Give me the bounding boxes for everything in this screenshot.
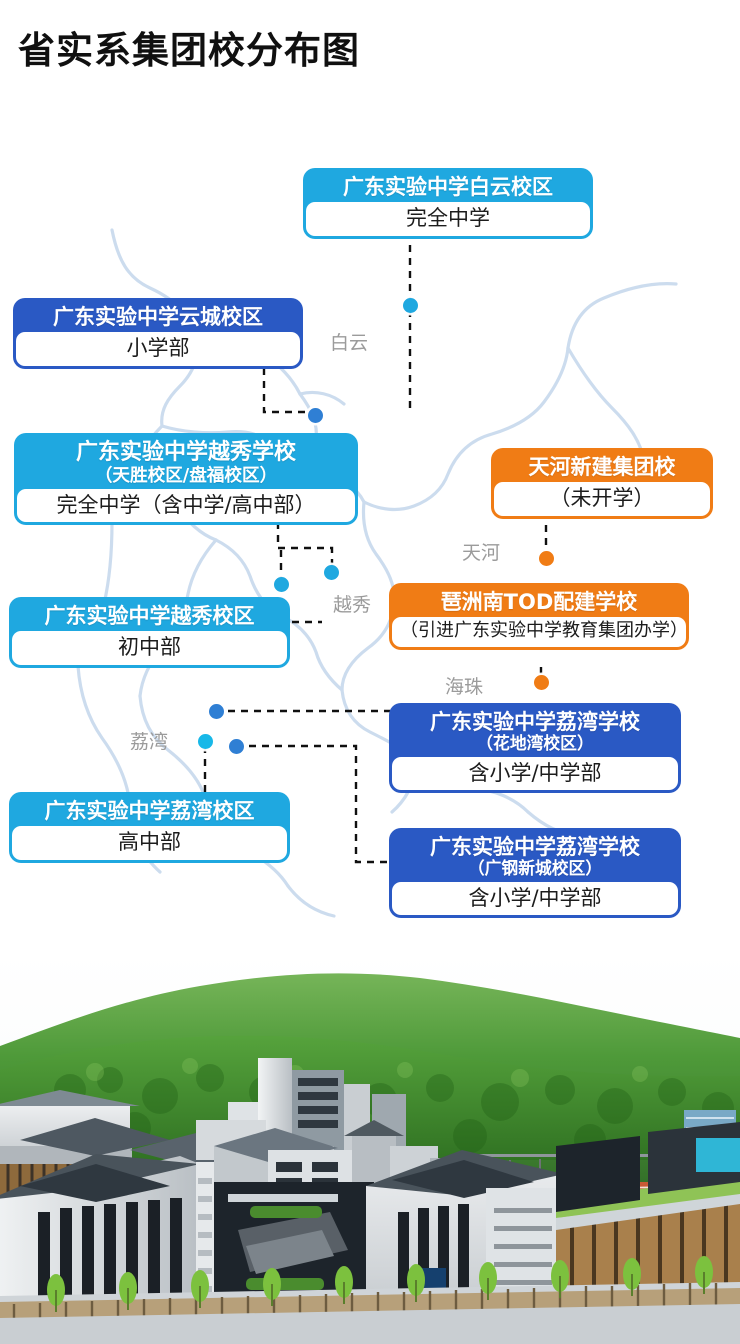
card-subtitle-text: （花地湾校区） <box>400 734 670 753</box>
card-title-yuncheng: 广东实验中学云城校区 <box>16 301 300 332</box>
district-label-liwan: 荔湾 <box>130 727 168 754</box>
card-body-liwan-campus: 高中部 <box>12 826 287 859</box>
card-body-liwan-huadiwan: 含小学/中学部 <box>392 757 678 790</box>
callout-card-pazhou-tod[interactable]: 琶洲南TOD配建学校 （引进广东实验中学教育集团办学） <box>389 583 689 650</box>
page-title: 省实系集团校分布图 <box>18 20 360 74</box>
card-body-yuexiu-school: 完全中学（含中学/高中部） <box>17 489 355 522</box>
card-body-tianhe-new: （未开学） <box>494 482 710 515</box>
card-title-liwan-guanggang: 广东实验中学荔湾学校 （广钢新城校区） <box>392 831 678 882</box>
map-dot-pazhou-tod[interactable] <box>534 675 549 690</box>
card-body-baiyun: 完全中学 <box>306 202 590 235</box>
map-dot-baiyun-campus[interactable] <box>403 298 418 313</box>
callout-card-yuexiu-campus[interactable]: 广东实验中学越秀校区 初中部 <box>9 597 290 668</box>
card-title-tianhe-new: 天河新建集团校 <box>494 451 710 482</box>
map-stage: 白云 天河 越秀 海珠 荔湾 广东实验中学白云校区 完全中学 广东实验中学云城校… <box>0 110 740 950</box>
card-subtitle-text: （天胜校区/盘福校区） <box>25 466 347 486</box>
district-label-tianhe: 天河 <box>462 538 500 565</box>
district-label-haizhu: 海珠 <box>445 672 483 699</box>
card-title-text: 天河新建集团校 <box>529 455 676 479</box>
map-dot-yuexiu-campus[interactable] <box>274 577 289 592</box>
card-title-yuexiu-campus: 广东实验中学越秀校区 <box>12 600 287 631</box>
campus-photo <box>0 950 740 1344</box>
card-title-text: 广东实验中学越秀学校 <box>76 440 296 465</box>
map-dot-liwan-campus[interactable] <box>198 734 213 749</box>
card-title-text: 广东实验中学云城校区 <box>53 305 263 329</box>
map-dot-yuexiu-school[interactable] <box>324 565 339 580</box>
map-dot-yuncheng-campus[interactable] <box>308 408 323 423</box>
callout-card-tianhe-new[interactable]: 天河新建集团校 （未开学） <box>491 448 713 519</box>
card-body-pazhou-tod: （引进广东实验中学教育集团办学） <box>392 617 686 647</box>
card-body-yuncheng: 小学部 <box>16 332 300 365</box>
card-title-liwan-campus: 广东实验中学荔湾校区 <box>12 795 287 826</box>
card-title-text: 广东实验中学越秀校区 <box>45 604 255 628</box>
callout-card-baiyun[interactable]: 广东实验中学白云校区 完全中学 <box>303 168 593 239</box>
map-dot-liwan-guanggang[interactable] <box>229 739 244 754</box>
card-title-baiyun: 广东实验中学白云校区 <box>306 171 590 202</box>
card-title-text: 广东实验中学白云校区 <box>343 175 553 199</box>
card-title-liwan-huadiwan: 广东实验中学荔湾学校 （花地湾校区） <box>392 706 678 757</box>
infographic-root: 省实系集团校分布图 <box>0 0 740 1344</box>
card-title-text: 广东实验中学荔湾校区 <box>45 799 255 823</box>
campus-photo-svg <box>0 950 740 1344</box>
district-label-baiyun: 白云 <box>330 328 368 355</box>
card-title-yuexiu-school: 广东实验中学越秀学校 （天胜校区/盘福校区） <box>17 436 355 489</box>
card-title-text: 广东实验中学荔湾学校 <box>430 835 640 859</box>
callout-card-liwan-campus[interactable]: 广东实验中学荔湾校区 高中部 <box>9 792 290 863</box>
card-title-text: 琶洲南TOD配建学校 <box>441 590 638 614</box>
map-dot-liwan-huadiwan[interactable] <box>209 704 224 719</box>
card-body-yuexiu-campus: 初中部 <box>12 631 287 664</box>
card-title-text: 广东实验中学荔湾学校 <box>430 710 640 734</box>
callout-card-liwan-huadiwan[interactable]: 广东实验中学荔湾学校 （花地湾校区） 含小学/中学部 <box>389 703 681 793</box>
district-label-yuexiu: 越秀 <box>333 590 371 617</box>
card-subtitle-text: （广钢新城校区） <box>400 859 670 878</box>
callout-card-liwan-guanggang[interactable]: 广东实验中学荔湾学校 （广钢新城校区） 含小学/中学部 <box>389 828 681 918</box>
card-body-liwan-guanggang: 含小学/中学部 <box>392 882 678 915</box>
callout-card-yuncheng[interactable]: 广东实验中学云城校区 小学部 <box>13 298 303 369</box>
callout-card-yuexiu-school[interactable]: 广东实验中学越秀学校 （天胜校区/盘福校区） 完全中学（含中学/高中部） <box>14 433 358 525</box>
card-title-pazhou-tod: 琶洲南TOD配建学校 <box>392 586 686 617</box>
map-dot-tianhe-new[interactable] <box>539 551 554 566</box>
